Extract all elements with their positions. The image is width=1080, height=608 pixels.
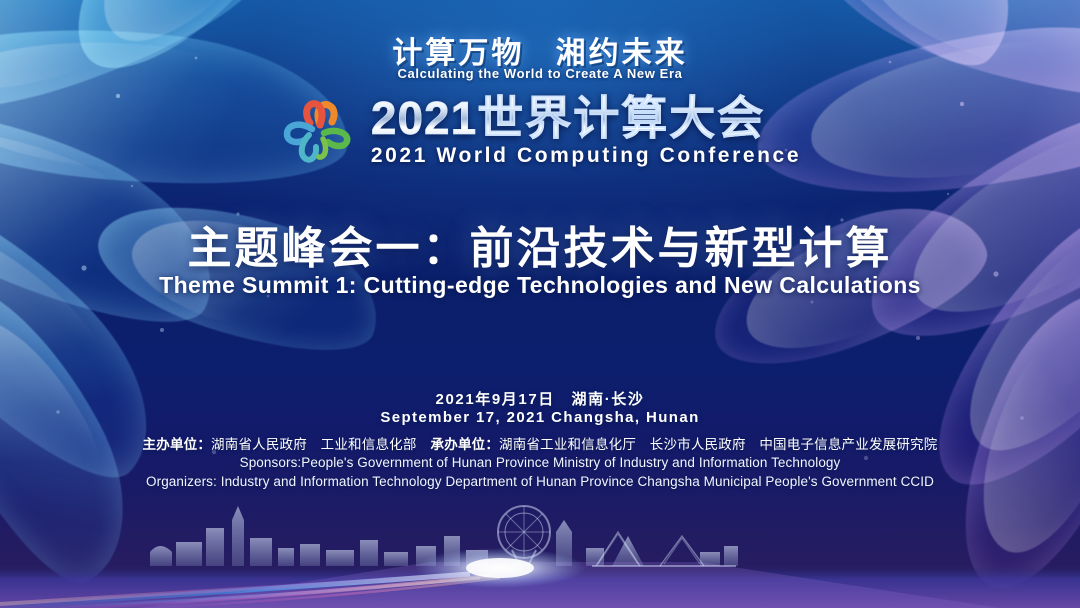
organizers-english: Organizers: Industry and Information Tec… — [0, 474, 1080, 489]
conference-title-chinese: 2021世界计算大会 — [371, 94, 801, 142]
sponsors-english: Sponsors:People's Government of Hunan Pr… — [0, 455, 1080, 470]
conference-title-chinese-text: 世界计算大会 — [477, 92, 765, 144]
conference-banner: 计算万物 湘约未来 Calculating the World to Creat… — [0, 0, 1080, 608]
event-date-english: September 17, 2021 Changsha, Hunan — [0, 409, 1080, 426]
brand-title-column: 2021世界计算大会 2021 World Computing Conferen… — [371, 94, 801, 168]
organizers-value-chinese: 湖南省工业和信息化厅 长沙市人民政府 中国电子信息产业发展研究院 — [499, 437, 937, 452]
conference-year: 2021 — [371, 92, 477, 144]
sponsors-value-chinese: 湖南省人民政府 工业和信息化部 — [211, 437, 417, 452]
slogan-english: Calculating the World to Create A New Er… — [0, 66, 1080, 81]
summit-headline-chinese: 主题峰会一：前沿技术与新型计算 — [0, 212, 1080, 276]
banner-content: 计算万物 湘约未来 Calculating the World to Creat… — [0, 0, 1080, 608]
organizers-chinese: 主办单位：湖南省人民政府 工业和信息化部承办单位：湖南省工业和信息化厅 长沙市人… — [0, 433, 1080, 453]
summit-headline-english: Theme Summit 1: Cutting-edge Technologie… — [0, 272, 1080, 299]
sponsors-label-chinese: 主办单位： — [143, 437, 212, 452]
butterfly-flower-logo-icon — [279, 95, 357, 167]
organizers-label-chinese: 承办单位： — [431, 437, 500, 452]
brand-lockup: 2021世界计算大会 2021 World Computing Conferen… — [0, 94, 1080, 168]
event-date-chinese: 2021年9月17日 湖南·长沙 — [0, 388, 1080, 409]
conference-title-english: 2021 World Computing Conference — [371, 144, 801, 168]
